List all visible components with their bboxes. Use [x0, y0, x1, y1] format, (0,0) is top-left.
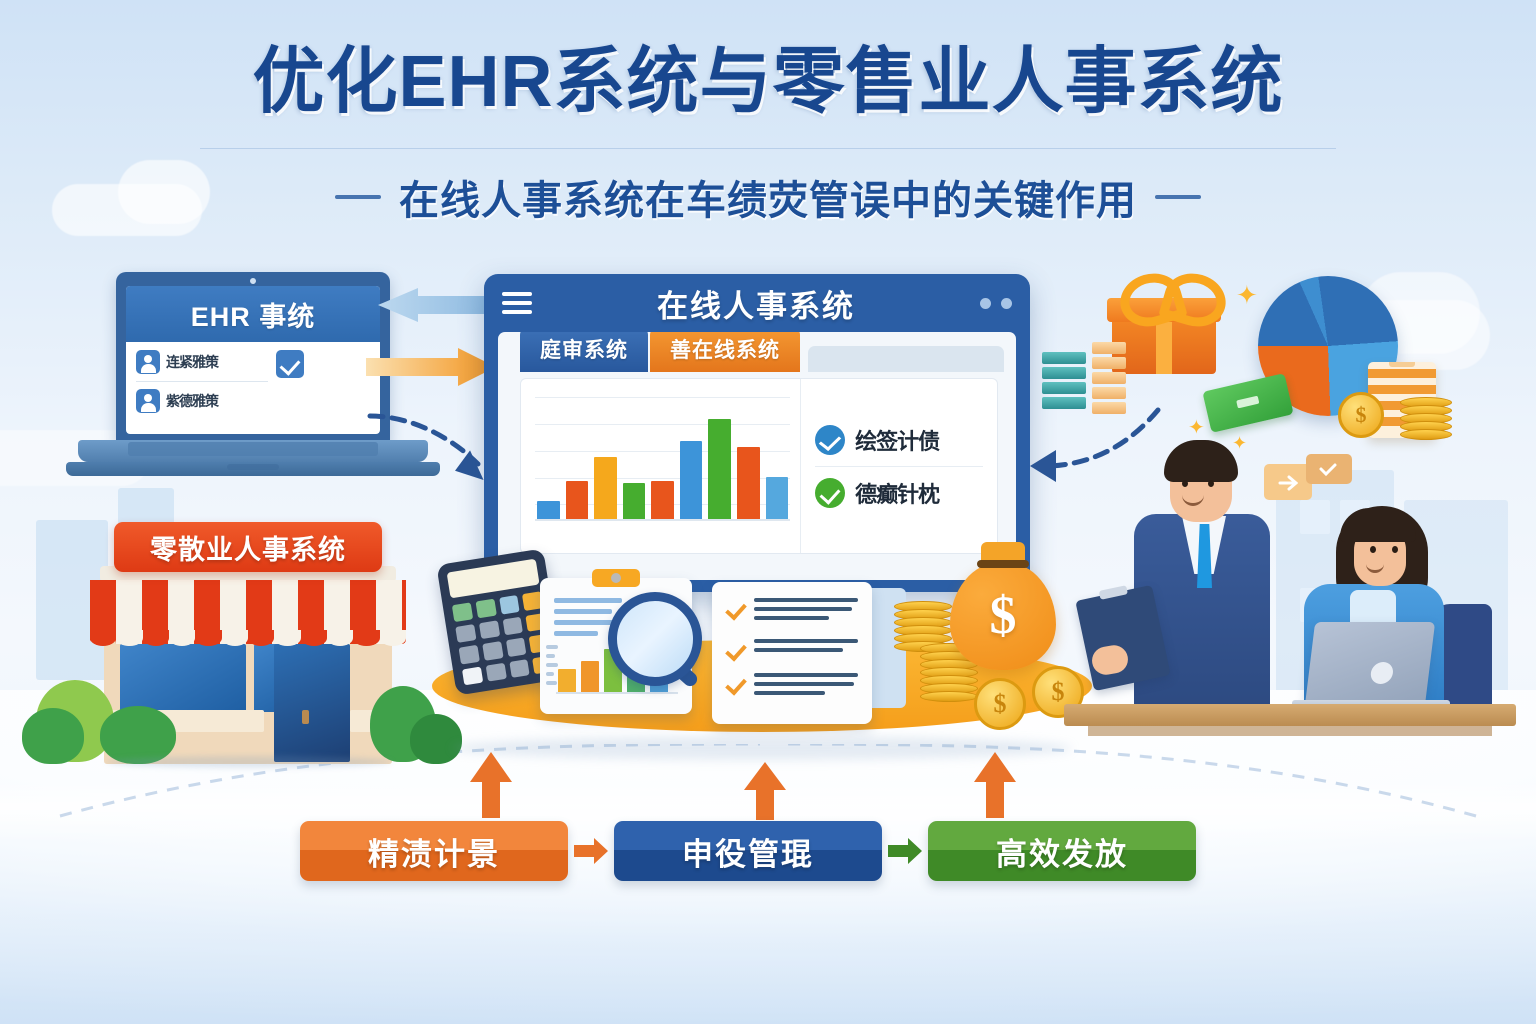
store-door[interactable]	[274, 644, 350, 762]
bar	[594, 457, 617, 519]
up-arrow-icon	[468, 752, 514, 818]
text-lines	[754, 598, 858, 625]
checklist-label: 德癫针枕	[855, 477, 939, 509]
tab-bar: 庭审系统 善在线系统	[498, 332, 1016, 372]
orange-check-icon	[726, 675, 744, 693]
ehr-screen-body: 连紧雅策 紫德雅策	[126, 342, 380, 428]
flow-arrow-2	[882, 838, 928, 864]
laptop-lid	[1305, 622, 1435, 706]
window-title: 在线人事系统	[546, 281, 966, 326]
hamburger-menu-icon[interactable]	[502, 292, 532, 314]
ehr-detail-panel	[276, 350, 370, 420]
user-icon	[136, 350, 160, 374]
online-hr-system-window: 在线人事系统 庭审系统 善在线系统	[484, 274, 1030, 592]
list-item-label: 紫德雅策	[166, 391, 218, 411]
orange-check-icon	[726, 600, 744, 618]
magnifying-glass-icon	[608, 592, 696, 680]
infographic-canvas: 优化EHR系统与零售业人事系统 在线人事系统在车绩荧管误中的关键作用 EHR 事…	[0, 0, 1536, 1024]
window-content: 庭审系统 善在线系统	[498, 332, 1016, 580]
bush-decor	[100, 706, 176, 764]
clipboard-clip	[1389, 362, 1415, 367]
page-title: 优化EHR系统与零售业人事系统	[0, 46, 1536, 118]
magnifier-lens	[608, 592, 702, 686]
hair	[1164, 440, 1238, 482]
bag-tie	[977, 560, 1029, 568]
send-icon	[1278, 474, 1298, 492]
dashboard-panel: 绘签计债 德癫针枕	[520, 378, 998, 554]
awning-scallops	[90, 630, 406, 646]
calculator-display	[447, 559, 540, 599]
ehr-list: 连紧雅策 紫德雅策	[136, 350, 268, 420]
store-shadow	[106, 756, 392, 768]
chart-bars	[537, 419, 788, 519]
store-sign-label: 零散业人事系统	[150, 528, 346, 567]
flow-arrow-1	[568, 838, 614, 864]
sparkle-icon: ✦	[1236, 282, 1258, 308]
tab-filler	[808, 346, 1004, 372]
eye	[1392, 546, 1398, 553]
checklist-row	[726, 598, 858, 625]
window-controls[interactable]	[980, 298, 1012, 309]
list-item[interactable]: 紫德雅策	[136, 389, 268, 413]
checklist-row	[726, 673, 858, 700]
cash-stack-icon	[1202, 373, 1293, 433]
eye	[1370, 546, 1376, 553]
coin-symbol: $	[994, 689, 1007, 719]
text-lines	[754, 673, 858, 700]
list-item-label: 连紧雅策	[166, 352, 218, 372]
window-titlebar: 在线人事系统	[484, 274, 1030, 332]
stacked-boxes-icon	[1042, 352, 1086, 412]
green-check-icon	[815, 478, 845, 508]
orange-check-icon	[726, 641, 744, 659]
bar	[581, 661, 599, 692]
window-dot[interactable]	[980, 298, 991, 309]
dashboard-bar-chart	[521, 379, 800, 553]
eye	[1182, 480, 1188, 487]
bar	[737, 447, 760, 519]
laptop-trackpad	[227, 464, 279, 470]
checklist-document-icon	[712, 582, 872, 724]
laptop-keyboard	[128, 442, 378, 456]
coin-icon: $	[974, 678, 1026, 730]
subtitle-rule-left	[335, 195, 381, 199]
store-window	[120, 644, 246, 712]
bar	[558, 669, 576, 692]
eye	[1208, 480, 1214, 487]
ehr-screen-header: EHR 事统	[126, 286, 380, 342]
flow-step-3[interactable]: 高效发放	[928, 821, 1196, 881]
bar	[708, 419, 731, 519]
clipboard-clip	[592, 569, 640, 587]
subtitle-row: 在线人事系统在车绩荧管误中的关键作用	[0, 168, 1536, 226]
tab-online-system[interactable]: 善在线系统	[650, 332, 800, 372]
checklist-item[interactable]: 绘签计债	[811, 414, 987, 466]
bar	[623, 483, 646, 519]
bush-decor	[22, 708, 84, 764]
bar	[680, 441, 703, 519]
checkbox-checked-icon[interactable]	[276, 350, 304, 378]
calculator-keys	[452, 591, 554, 685]
checklist-label: 绘签计债	[855, 424, 939, 456]
flow-step-label: 高效发放	[996, 829, 1128, 874]
desk-surface	[1064, 704, 1516, 726]
ehr-screen-title: EHR 事统	[191, 295, 316, 334]
bar	[651, 481, 674, 519]
text-lines	[754, 639, 858, 657]
coin-symbol: $	[1052, 677, 1065, 707]
blue-check-icon	[815, 425, 845, 455]
checklist-row	[726, 639, 858, 659]
up-arrow-icon	[742, 762, 788, 820]
door-handle-icon	[302, 710, 309, 724]
right-arrow-icon	[888, 838, 922, 864]
stacked-papers-icon	[1092, 342, 1126, 417]
flow-step-label: 申役管琨	[682, 829, 814, 874]
laptop-screen: EHR 事统 连紧雅策 紫德雅策	[126, 286, 380, 434]
right-arrow-icon	[574, 838, 608, 864]
list-item[interactable]: 连紧雅策	[136, 350, 268, 374]
tab-legacy-system[interactable]: 庭审系统	[520, 332, 648, 372]
process-flow: 精渍计景 申役管琨 高效发放	[300, 818, 1196, 884]
checklist-item[interactable]: 德癫针枕	[811, 467, 987, 519]
users-icon	[136, 389, 160, 413]
laptop-logo	[1370, 662, 1395, 684]
right-arrow-icon	[366, 348, 496, 386]
title-hairline	[200, 148, 1336, 149]
retail-store: 零散业人事系统	[18, 522, 448, 762]
money-bag-icon: $	[950, 562, 1056, 670]
coin-symbol: $	[1356, 402, 1367, 428]
check-icon	[1318, 462, 1338, 478]
up-arrow-icon	[972, 752, 1018, 818]
desk-apron	[1088, 726, 1492, 736]
divider	[136, 381, 268, 382]
flow-step-2[interactable]: 申役管琨	[614, 821, 882, 881]
gift-box-icon	[1112, 286, 1216, 374]
bar	[566, 481, 589, 519]
dollar-symbol: $	[950, 588, 1056, 642]
left-arrow-icon	[378, 288, 496, 322]
store-sign: 零散业人事系统	[114, 522, 382, 572]
clipboard-chart-axis	[556, 692, 678, 694]
flow-step-label: 精渍计景	[368, 829, 500, 874]
flow-step-1[interactable]: 精渍计景	[300, 821, 568, 881]
page-subtitle: 在线人事系统在车绩荧管误中的关键作用	[399, 168, 1137, 226]
subtitle-rule-right	[1155, 195, 1201, 199]
window-dot[interactable]	[1001, 298, 1012, 309]
laptop-camera-icon	[250, 278, 256, 284]
bar	[766, 477, 789, 519]
bar	[537, 501, 560, 519]
dashboard-checklist: 绘签计债 德癫针枕	[800, 379, 997, 553]
chart-axis	[535, 519, 790, 521]
people-group	[1078, 432, 1528, 772]
laptop-lid: EHR 事统 连紧雅策 紫德雅策	[116, 272, 390, 444]
